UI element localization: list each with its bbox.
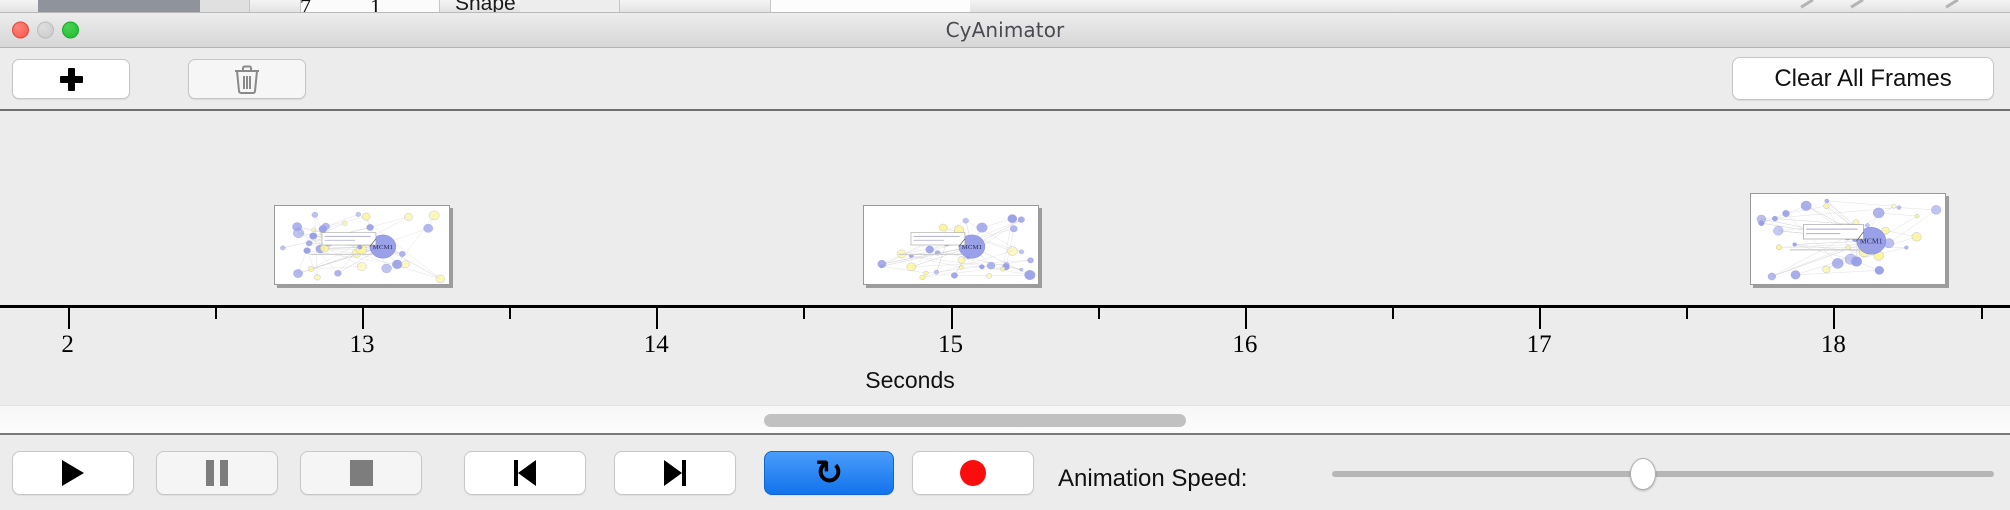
axis-tick-label: 18 [1821, 331, 1846, 359]
maximize-button-icon[interactable] [62, 22, 79, 39]
plus-icon [57, 65, 85, 93]
play-button[interactable] [12, 451, 134, 495]
axis-tick-label: 2 [61, 331, 74, 359]
loop-button[interactable]: ↻ [764, 451, 894, 495]
axis-tick-minor [1686, 308, 1688, 319]
axis-line [0, 305, 2010, 308]
pause-button[interactable] [156, 451, 278, 495]
window-title: CyAnimator [946, 18, 1065, 42]
background-dark-tab [38, 0, 200, 13]
background-glyph-2: 1 [370, 0, 381, 13]
cyanimator-window: 7 1 Shape CyAnimator Clear All Frames [0, 0, 2010, 510]
skip-to-start-icon [514, 460, 536, 486]
axis-tick-label: 13 [349, 331, 374, 359]
skip-to-end-button[interactable] [614, 451, 736, 495]
timeline-scrollbar-thumb[interactable] [764, 414, 1186, 427]
axis-title: Seconds [0, 367, 2010, 394]
axis-tick-label: 15 [938, 331, 963, 359]
background-chevron-2 [1850, 0, 1863, 8]
timeline-axis: Seconds 2131415161718 [0, 305, 2010, 403]
add-frame-button[interactable] [12, 59, 130, 99]
axis-tick-major [951, 308, 953, 329]
stop-icon [350, 460, 373, 486]
axis-tick-major [68, 308, 70, 329]
axis-tick-minor [215, 308, 217, 319]
pause-icon [206, 460, 228, 486]
axis-tick-minor [509, 308, 511, 319]
close-button-icon[interactable] [12, 22, 29, 39]
axis-tick-major [362, 308, 364, 329]
stop-button[interactable] [300, 451, 422, 495]
slider-thumb[interactable] [1630, 458, 1656, 490]
slider-track [1332, 471, 1994, 477]
axis-tick-minor [1392, 308, 1394, 319]
axis-tick-minor [803, 308, 805, 319]
playback-bar: ↻ Animation Speed: [0, 437, 2010, 510]
frame-thumbnail-3[interactable]: MCM1 [1750, 193, 1946, 285]
axis-tick-minor [1098, 308, 1100, 319]
background-chevron-1 [1800, 0, 1813, 8]
animation-speed-slider[interactable] [1332, 451, 1994, 495]
background-cell-a [200, 0, 250, 13]
background-cell-d [770, 0, 970, 13]
timeline-panel[interactable]: MCM1 MCM1 MCM1 Seconds 2131415 [0, 113, 2010, 403]
axis-tick-major [1833, 308, 1835, 329]
axis-title-text: Seconds [865, 367, 955, 393]
record-icon [960, 460, 986, 486]
animation-speed-label: Animation Speed: [1058, 465, 1247, 493]
loop-icon: ↻ [815, 456, 844, 490]
axis-tick-minor [1981, 308, 1983, 319]
background-cell-c [520, 0, 620, 13]
axis-tick-major [1539, 308, 1541, 329]
skip-to-start-button[interactable] [464, 451, 586, 495]
axis-tick-label: 17 [1527, 331, 1552, 359]
axis-tick-label: 14 [644, 331, 669, 359]
delete-frame-button[interactable] [188, 59, 306, 99]
axis-tick-major [1245, 308, 1247, 329]
minimize-button-icon[interactable] [37, 22, 54, 39]
play-icon [62, 460, 84, 486]
frames-area[interactable]: MCM1 MCM1 MCM1 [0, 113, 2010, 303]
title-bar: CyAnimator [0, 13, 2010, 48]
record-button[interactable] [912, 451, 1034, 495]
axis-tick-label: 16 [1232, 331, 1257, 359]
timeline-scrollbar[interactable] [0, 405, 2010, 435]
background-shape-label: Shape [455, 0, 516, 13]
frame-thumbnail-2[interactable]: MCM1 [863, 205, 1039, 285]
trash-icon [234, 64, 260, 94]
frame-thumbnail-1[interactable]: MCM1 [274, 205, 450, 285]
background-window-strip: 7 1 Shape [0, 0, 2010, 13]
axis-tick-major [656, 308, 658, 329]
skip-to-end-icon [664, 460, 686, 486]
clear-all-frames-button[interactable]: Clear All Frames [1732, 57, 1994, 100]
traffic-lights [12, 22, 79, 39]
frame-toolbar: Clear All Frames [0, 49, 2010, 111]
background-glyph-1: 7 [300, 0, 311, 13]
background-chevron-3 [1945, 0, 1958, 8]
